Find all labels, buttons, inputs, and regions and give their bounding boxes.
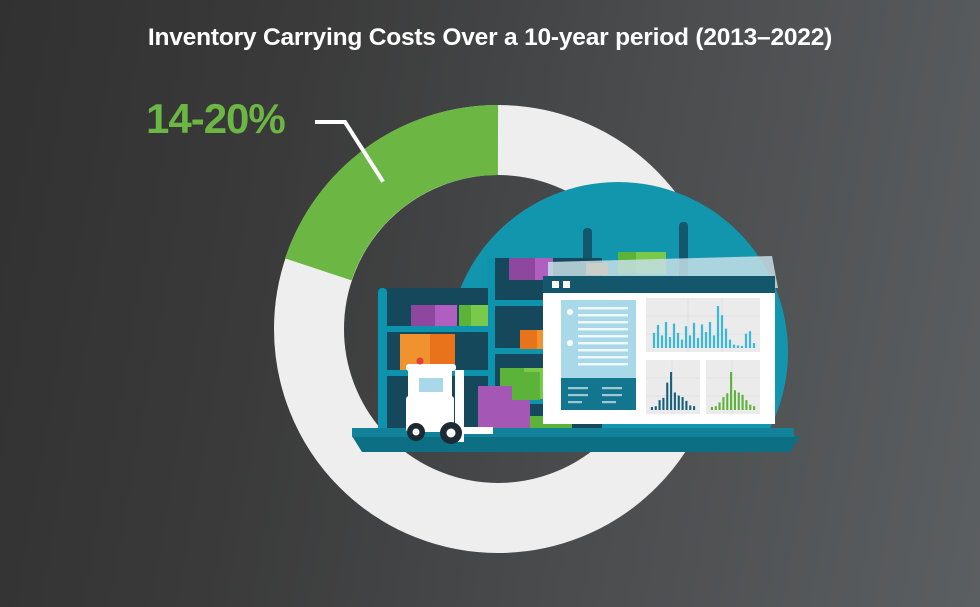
- infographic-canvas: Inventory Carrying Costs Over a 10-year …: [0, 0, 980, 607]
- callout-leader-line: [0, 0, 980, 607]
- leader-line-path: [317, 122, 382, 180]
